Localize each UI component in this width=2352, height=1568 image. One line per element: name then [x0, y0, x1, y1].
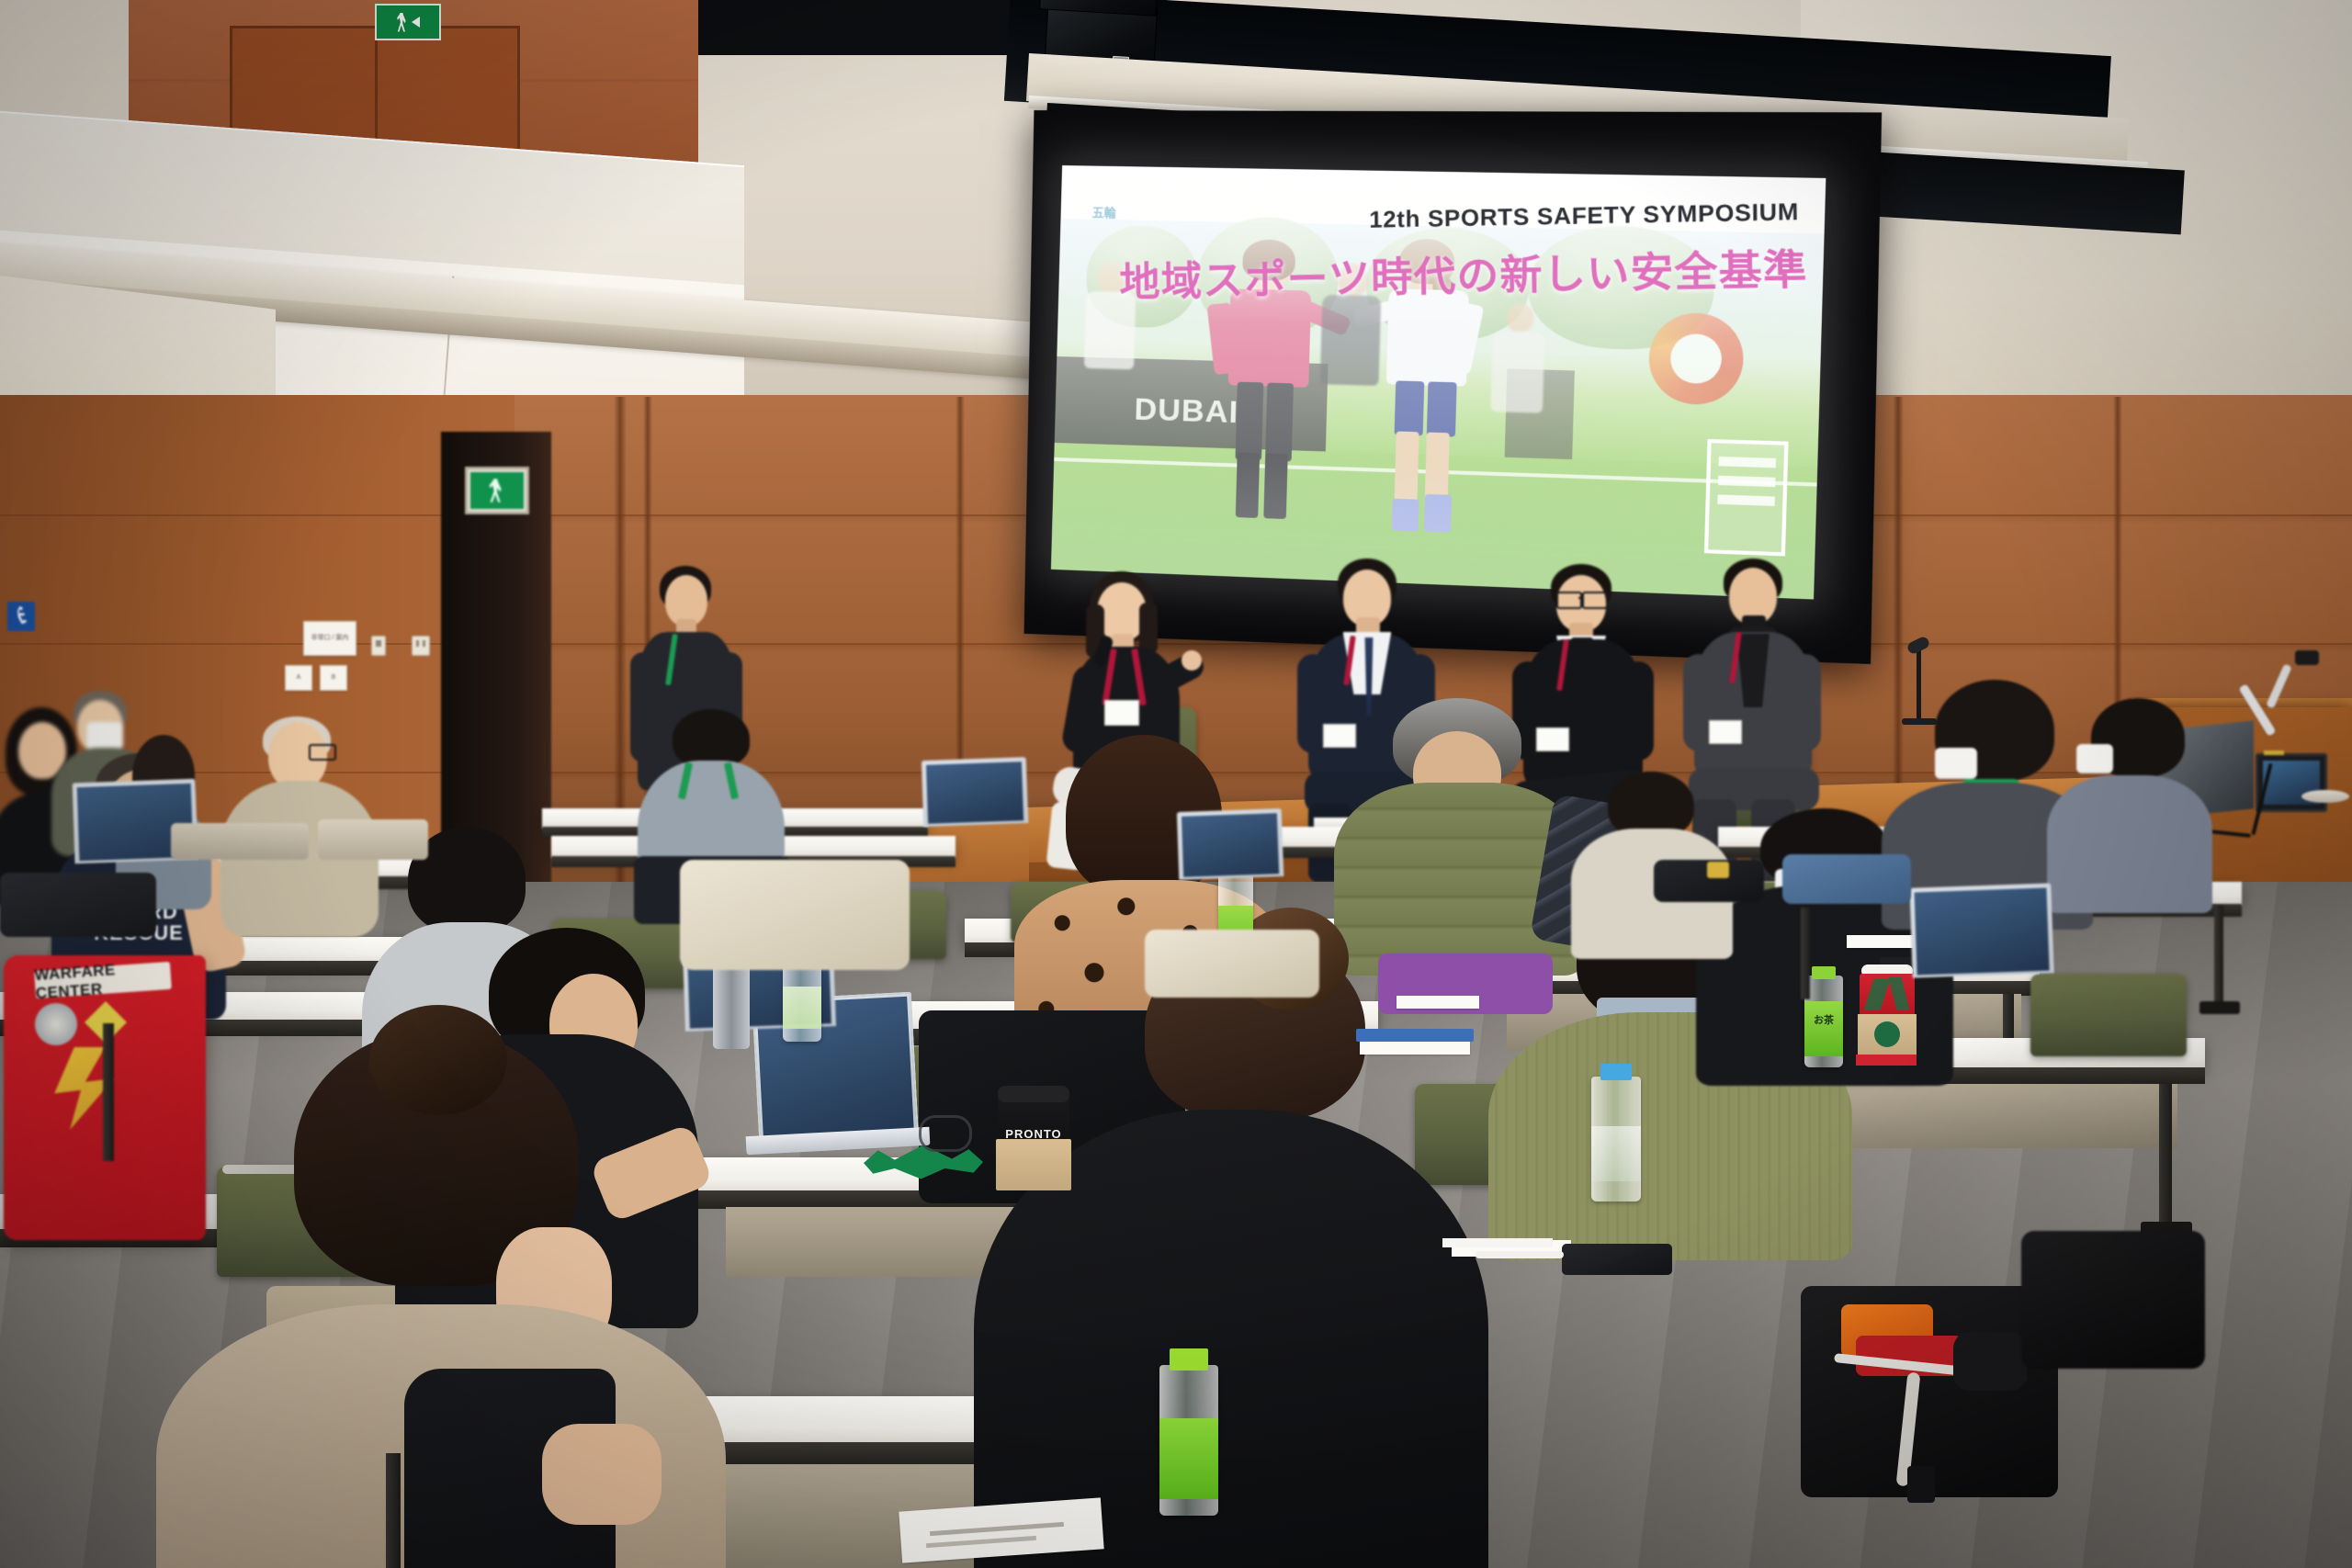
eyeglasses-icon [1556, 592, 1582, 609]
notebook-cover [1356, 1029, 1474, 1042]
tea-label-text: お茶 [1814, 1016, 1834, 1051]
hand [1182, 650, 1202, 671]
eyeglasses-icon [309, 744, 336, 761]
face-mask-icon [2076, 744, 2113, 773]
camera-base-plate [2301, 790, 2349, 803]
backpack[interactable] [1801, 1286, 2058, 1497]
paper-handout[interactable] [1396, 996, 1479, 1009]
exit-sign-icon [375, 4, 441, 40]
jacket-patch-icon [35, 1003, 77, 1045]
water-bottle[interactable] [1591, 1077, 1641, 1201]
face-mask-icon [1935, 748, 1977, 779]
cardboard-box [318, 819, 428, 860]
backpack-strap [1953, 1332, 2027, 1391]
laptop[interactable] [922, 757, 1028, 827]
cardboard-box [171, 823, 309, 860]
hand [542, 1424, 661, 1525]
jacket-patch-text: WARFARE CENTER [34, 962, 172, 998]
name-badge [1709, 720, 1742, 744]
smartphone[interactable] [1562, 1244, 1672, 1275]
eyeglasses-icon [1582, 592, 1608, 609]
coffee-cup-starbucks[interactable] [1860, 974, 1915, 1020]
chair[interactable] [2030, 974, 2187, 1056]
desk-leg [386, 1453, 401, 1568]
cup-lid [998, 1086, 1069, 1102]
laptop[interactable] [1177, 808, 1284, 880]
hair-bun [369, 1005, 507, 1115]
desk-leg [2214, 906, 2223, 1007]
attendee [2040, 698, 2223, 909]
wall-sign: B [320, 665, 347, 691]
starbucks-logo-icon [1874, 1021, 1900, 1047]
wall-outlet [412, 636, 430, 656]
accessible-sign-icon [7, 602, 35, 631]
jacket-lightning-icon [37, 1047, 147, 1130]
backpack-strap [1907, 1466, 1935, 1503]
desk-leg [1801, 908, 1810, 999]
desk-leg [103, 1023, 114, 1161]
desk-leg [2159, 1084, 2172, 1231]
bag[interactable] [0, 873, 156, 937]
desk-foot [2199, 1001, 2240, 1014]
paper-handout[interactable] [1442, 1238, 1553, 1247]
cup-sleeve [1858, 1014, 1917, 1058]
cup-base-band [1856, 1055, 1917, 1066]
name-badge [1104, 700, 1139, 726]
thermos-flask[interactable] [713, 961, 750, 1049]
projector-screen: DUBAI [1051, 165, 1826, 600]
green-tea-bottle-foreground[interactable] [1159, 1365, 1218, 1516]
coat-on-chair [680, 860, 910, 970]
slide-side-card [1704, 439, 1789, 557]
slide-spectator [1483, 302, 1555, 474]
coat-on-chair [1145, 930, 1319, 998]
laptop[interactable] [1909, 883, 2053, 977]
bag[interactable] [2021, 1231, 2205, 1369]
slide-title-english: 12th SPORTS SAFETY SYMPOSIUM [1369, 198, 1799, 233]
wall-sign: 非常口 / 案内 [303, 621, 356, 656]
cap-emblem-icon [1707, 862, 1729, 878]
attendee-foreground-beige-coat [156, 1029, 726, 1568]
slide-corner-mark: 五輪 [1091, 207, 1120, 239]
bag[interactable] [1782, 854, 1911, 904]
cup-sleeve [996, 1139, 1071, 1190]
wall-sign: A [285, 665, 312, 691]
green-tea-bottle[interactable]: お茶 [1804, 976, 1843, 1067]
slide-sponsor-logo [1647, 312, 1744, 406]
exit-sign-left-icon [465, 467, 529, 514]
wall-outlet [371, 636, 386, 656]
pen[interactable] [1476, 1251, 1564, 1258]
eyeglasses-icon [919, 1115, 972, 1152]
video-camera-icon [2295, 650, 2319, 665]
conference-hall-photo: 非常口 / 案内 A B DUBAI [0, 0, 2352, 1568]
